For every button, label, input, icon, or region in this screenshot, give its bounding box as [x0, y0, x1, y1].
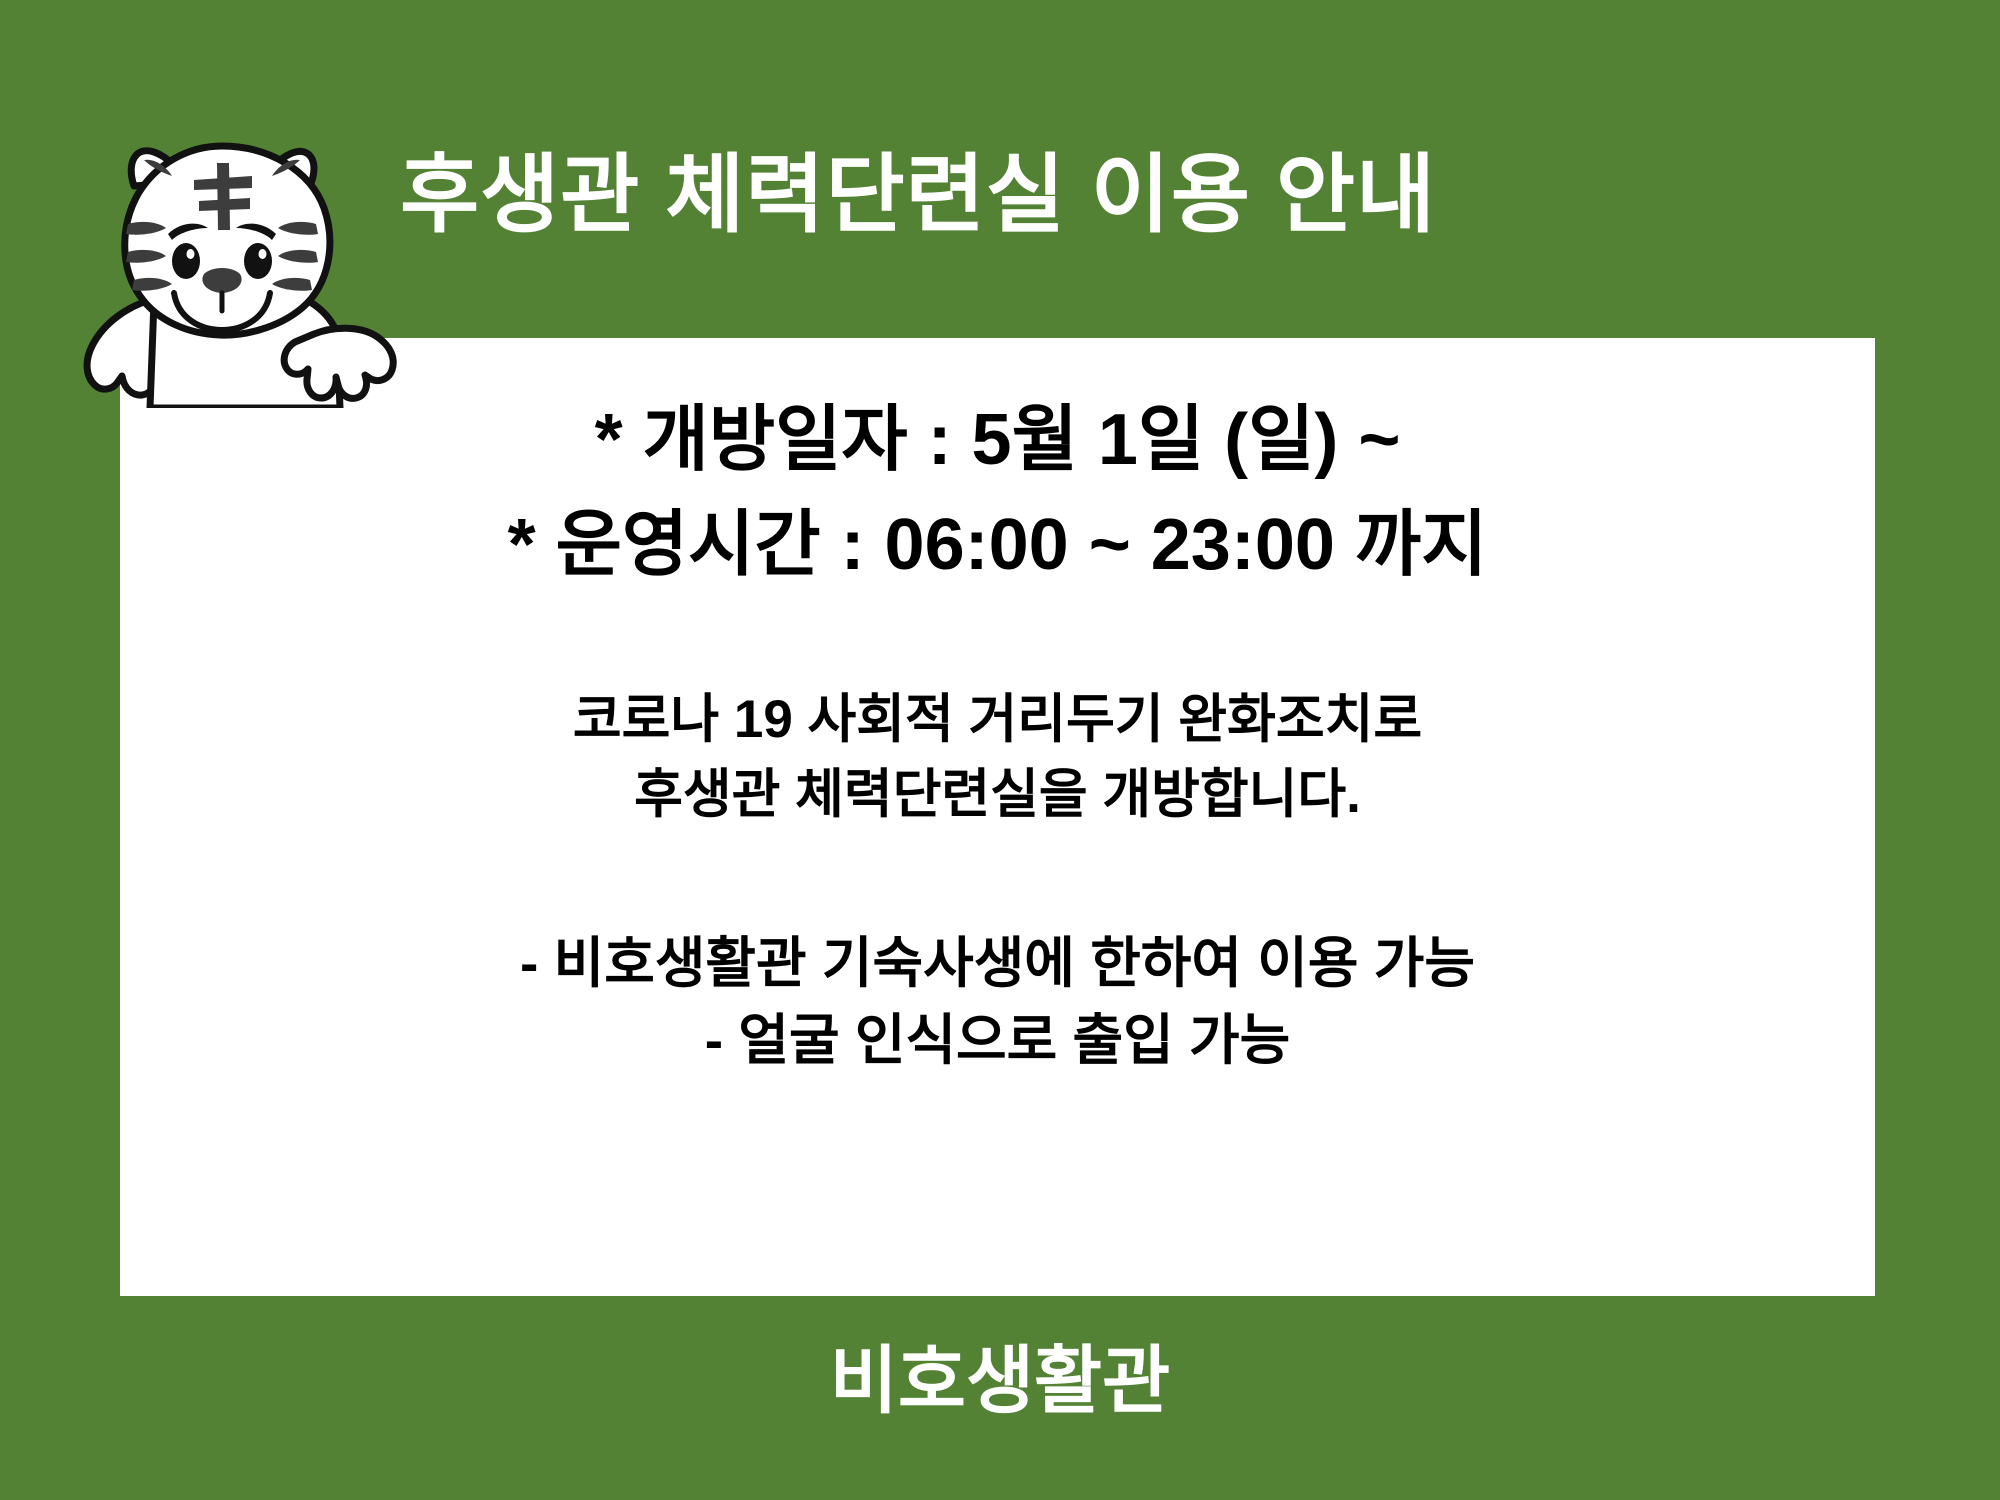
paragraph-line-1: 코로나 19 사회적 거리두기 완화조치로 — [573, 682, 1422, 757]
notice-card: * 개방일자 : 5월 1일 (일) ~ * 운영시간 : 06:00 ~ 23… — [120, 338, 1875, 1296]
note-face-recognition: - 얼굴 인식으로 출입 가능 — [705, 1002, 1290, 1079]
note-eligibility: - 비호생활관 기숙사생에 한하여 이용 가능 — [520, 925, 1475, 1002]
footer-organization: 비호생활관 — [0, 1340, 2000, 1421]
bullet-operating-hours: * 운영시간 : 06:00 ~ 23:00 까지 — [508, 493, 1488, 598]
paragraph-line-2: 후생관 체력단련실을 개방합니다. — [634, 757, 1361, 832]
announcement-paragraph: 코로나 19 사회적 거리두기 완화조치로 후생관 체력단련실을 개방합니다. — [573, 682, 1422, 833]
notice-poster: 후생관 체력단련실 이용 안내 — [0, 0, 2000, 1500]
notice-card-body: * 개방일자 : 5월 1일 (일) ~ * 운영시간 : 06:00 ~ 23… — [120, 338, 1875, 1296]
usage-notes: - 비호생활관 기숙사생에 한하여 이용 가능 - 얼굴 인식으로 출입 가능 — [520, 925, 1475, 1079]
page-title: 후생관 체력단련실 이용 안내 — [400, 150, 1800, 240]
schedule-bullets: * 개방일자 : 5월 1일 (일) ~ * 운영시간 : 06:00 ~ 23… — [508, 388, 1488, 598]
bullet-open-date: * 개방일자 : 5월 1일 (일) ~ — [595, 388, 1401, 493]
